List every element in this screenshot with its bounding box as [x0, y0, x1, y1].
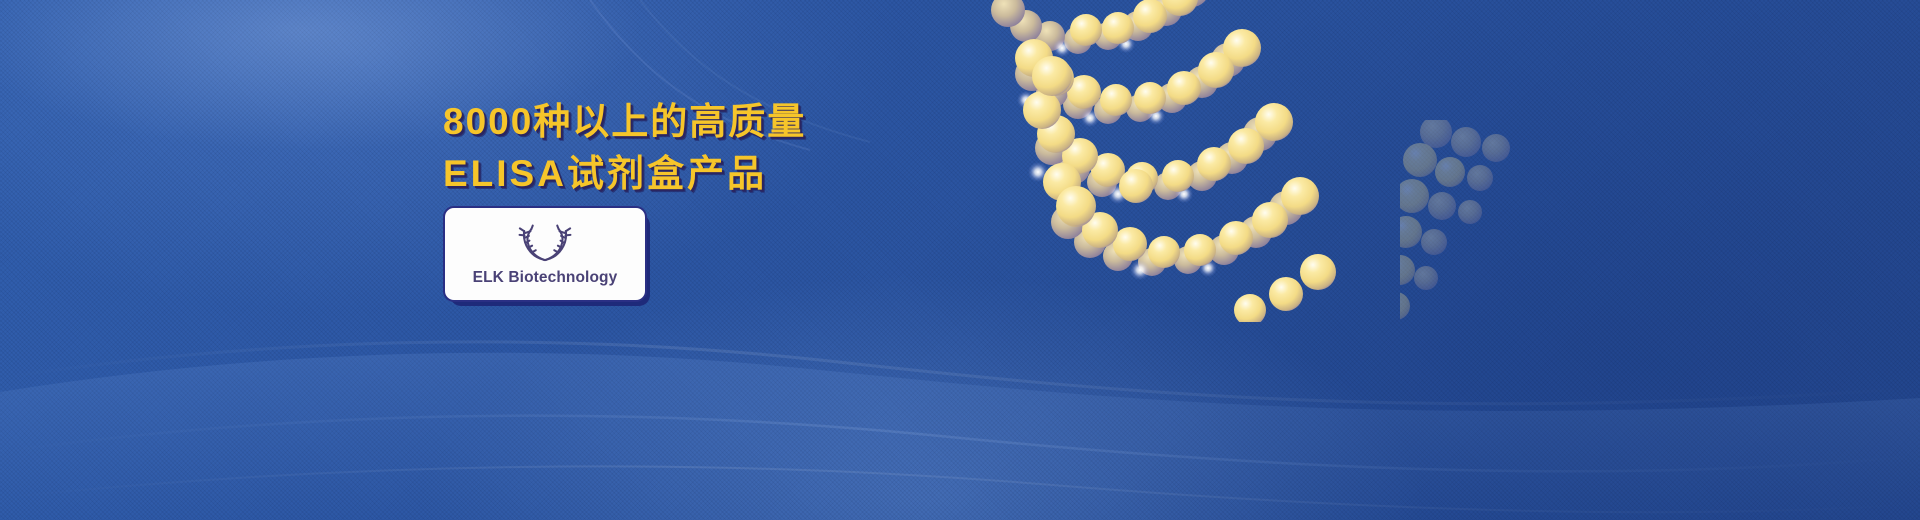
logo-wordmark: ELK Biotechnology	[473, 269, 618, 286]
logo-card-surface[interactable]: ELK Biotechnology	[443, 206, 647, 302]
dna-double-helix-faded	[1400, 120, 1640, 330]
dna-antler-icon	[513, 224, 577, 268]
headline-line-1: 8000种以上的高质量	[443, 96, 1203, 148]
brand-logo-card[interactable]: ELK Biotechnology	[443, 206, 643, 298]
background-mesh-texture	[0, 0, 1920, 520]
headline-block: 8000种以上的高质量 ELISA试剂盒产品	[443, 96, 1203, 200]
headline-line-2: ELISA试剂盒产品	[443, 148, 1203, 200]
background-wave-decoration	[0, 0, 1920, 520]
promo-banner: 8000种以上的高质量 ELISA试剂盒产品	[0, 0, 1920, 520]
